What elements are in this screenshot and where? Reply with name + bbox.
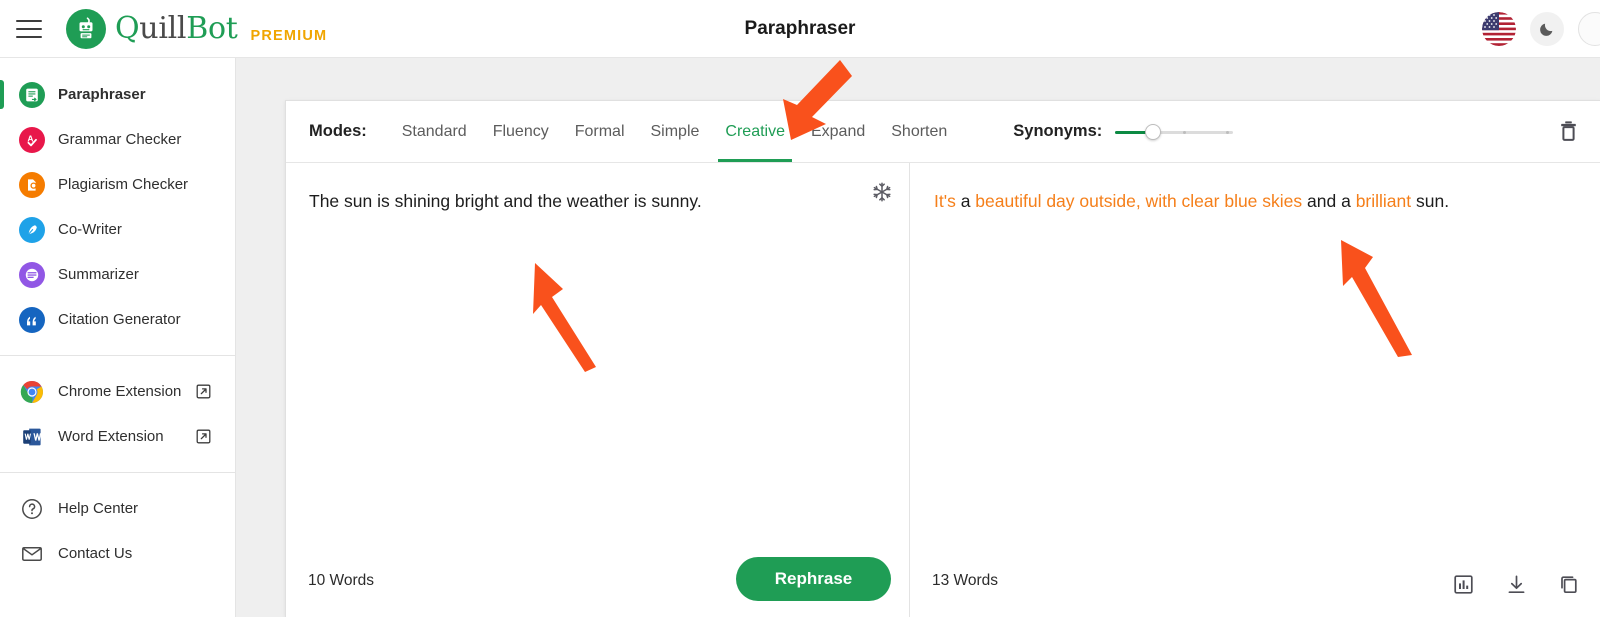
sidebar-item-chrome-extension[interactable]: Chrome Extension xyxy=(0,369,235,414)
grammar-checker-icon: A xyxy=(19,127,45,153)
synonyms-control: Synonyms: xyxy=(1013,122,1233,141)
slider-thumb[interactable] xyxy=(1145,124,1161,140)
header-actions xyxy=(1482,12,1590,46)
input-text[interactable]: The sun is shining bright and the weathe… xyxy=(309,188,863,214)
snowflake-icon[interactable] xyxy=(871,181,893,208)
mode-fluency[interactable]: Fluency xyxy=(480,101,562,162)
sidebar-divider-2 xyxy=(0,472,235,473)
bar-chart-icon[interactable] xyxy=(1453,574,1474,595)
sidebar-label-plagiarism-checker: Plagiarism Checker xyxy=(58,176,188,193)
output-actions xyxy=(1453,574,1580,595)
sidebar-label-co-writer: Co-Writer xyxy=(58,221,122,238)
quillbot-paraphraser-app: QuillBot PREMIUM Paraphraser xyxy=(0,0,1600,617)
mode-simple[interactable]: Simple xyxy=(638,101,713,162)
sidebar-label-contact-us: Contact Us xyxy=(58,545,132,562)
sidebar-item-help-center[interactable]: Help Center xyxy=(0,486,235,531)
sidebar-label-summarizer: Summarizer xyxy=(58,266,139,283)
output-segment-plain: and a xyxy=(1302,191,1356,211)
slider-tick xyxy=(1226,131,1229,134)
sidebar-item-grammar-checker[interactable]: A Grammar Checker xyxy=(0,117,235,162)
citation-generator-icon xyxy=(19,307,45,333)
input-pane: The sun is shining bright and the weathe… xyxy=(286,163,909,617)
quillbot-robot-icon xyxy=(66,9,106,49)
sidebar-label-word-extension: Word Extension xyxy=(58,428,164,445)
main-content: Modes: Standard Fluency Formal Simple Cr… xyxy=(236,58,1600,617)
brand-logo-group[interactable]: QuillBot PREMIUM xyxy=(66,9,327,49)
moon-icon[interactable] xyxy=(1530,12,1564,46)
mode-creative[interactable]: Creative xyxy=(712,101,798,162)
sidebar-item-plagiarism-checker[interactable]: Plagiarism Checker xyxy=(0,162,235,207)
output-segment-highlight[interactable]: brilliant xyxy=(1356,191,1411,211)
external-link-icon[interactable] xyxy=(196,429,211,444)
output-segment-highlight[interactable]: It's xyxy=(934,191,956,211)
paraphraser-card: Modes: Standard Fluency Formal Simple Cr… xyxy=(285,100,1600,617)
sidebar-item-word-extension[interactable]: Word Extension xyxy=(0,414,235,459)
brand-wordmark: QuillBot xyxy=(115,11,237,46)
mode-expand[interactable]: Expand xyxy=(798,101,878,162)
mode-standard[interactable]: Standard xyxy=(389,101,480,162)
sidebar: Paraphraser A Grammar Checker Plagiarism… xyxy=(0,58,236,617)
output-word-count: 13 Words xyxy=(932,572,998,590)
chrome-icon xyxy=(19,379,45,405)
output-segment-highlight[interactable]: beautiful day outside, with clear blue s… xyxy=(975,191,1302,211)
sidebar-item-paraphraser[interactable]: Paraphraser xyxy=(0,72,235,117)
download-icon[interactable] xyxy=(1506,574,1527,595)
output-footer: 13 Words xyxy=(910,545,1600,617)
synonyms-slider[interactable] xyxy=(1115,123,1233,141)
brand-q: Q xyxy=(115,11,139,46)
mode-formal[interactable]: Formal xyxy=(562,101,638,162)
sidebar-label-help-center: Help Center xyxy=(58,500,138,517)
output-text[interactable]: It's a beautiful day outside, with clear… xyxy=(934,188,1576,214)
trash-icon[interactable] xyxy=(1559,120,1578,147)
output-segment-plain: a xyxy=(956,191,975,211)
paraphraser-icon xyxy=(19,82,45,108)
external-link-icon[interactable] xyxy=(196,384,211,399)
synonyms-label: Synonyms: xyxy=(1013,122,1102,141)
plagiarism-checker-icon xyxy=(19,172,45,198)
question-circle-icon xyxy=(19,496,45,522)
sidebar-item-summarizer[interactable]: Summarizer xyxy=(0,252,235,297)
sidebar-item-co-writer[interactable]: Co-Writer xyxy=(0,207,235,252)
output-segment-plain: sun. xyxy=(1411,191,1449,211)
hamburger-menu-icon[interactable] xyxy=(16,20,42,38)
sidebar-divider-1 xyxy=(0,355,235,356)
mode-shorten[interactable]: Shorten xyxy=(878,101,960,162)
sidebar-label-grammar-checker: Grammar Checker xyxy=(58,131,181,148)
app-header: QuillBot PREMIUM Paraphraser xyxy=(0,0,1600,58)
ms-word-icon xyxy=(19,424,45,450)
rephrase-button[interactable]: Rephrase xyxy=(736,557,891,601)
us-flag-icon[interactable] xyxy=(1482,12,1516,46)
co-writer-icon xyxy=(19,217,45,243)
input-footer: 10 Words Rephrase xyxy=(286,545,909,617)
sidebar-label-citation-generator: Citation Generator xyxy=(58,311,181,328)
editor-panes: The sun is shining bright and the weathe… xyxy=(286,163,1600,617)
output-pane: It's a beautiful day outside, with clear… xyxy=(910,163,1600,617)
sidebar-label-paraphraser: Paraphraser xyxy=(58,86,146,103)
input-word-count: 10 Words xyxy=(308,572,374,590)
brand-uill: uill xyxy=(139,11,186,46)
sidebar-label-chrome-extension: Chrome Extension xyxy=(58,383,181,400)
avatar-icon[interactable] xyxy=(1578,12,1600,46)
brand-bot: Bot xyxy=(186,11,237,46)
summarizer-icon xyxy=(19,262,45,288)
copy-icon[interactable] xyxy=(1559,574,1580,595)
envelope-icon xyxy=(19,541,45,567)
sidebar-item-citation-generator[interactable]: Citation Generator xyxy=(0,297,235,342)
sidebar-item-contact-us[interactable]: Contact Us xyxy=(0,531,235,576)
modes-label: Modes: xyxy=(309,122,367,141)
modes-toolbar: Modes: Standard Fluency Formal Simple Cr… xyxy=(286,101,1600,163)
slider-tick xyxy=(1183,131,1186,134)
brand-premium-badge: PREMIUM xyxy=(250,28,327,49)
